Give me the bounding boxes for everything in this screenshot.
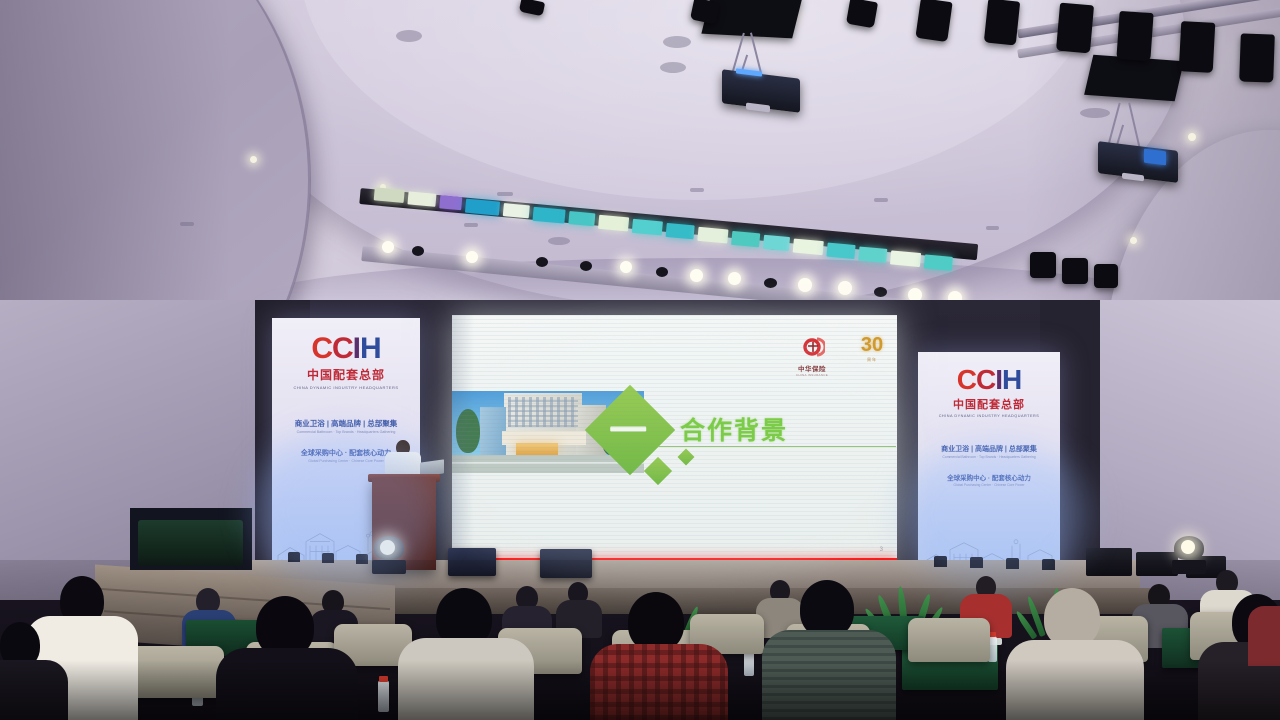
moving-head-lens	[1181, 540, 1195, 554]
spot-fixture	[536, 257, 548, 267]
spot-light	[798, 278, 812, 292]
light-cell	[793, 239, 824, 256]
downlight	[250, 156, 257, 163]
ccih-letter-c2: C	[976, 364, 995, 395]
ccih-logo-right: CCIH 中国配套总部 CHINA DYNAMIC INDUSTRY HEADQ…	[918, 366, 1060, 419]
light-cell	[465, 199, 500, 216]
ceiling-vent	[660, 62, 686, 73]
foreground-shadow	[0, 660, 1280, 720]
downlight	[1188, 133, 1196, 141]
audience-head-front	[628, 592, 684, 652]
ccih-logo-left: CCIH 中国配套总部 CHINA DYNAMIC INDUSTRY HEADQ…	[272, 334, 420, 391]
downlight	[1130, 237, 1137, 244]
ceiling-slot	[180, 222, 194, 226]
light-cell	[924, 254, 953, 270]
light-cell	[374, 187, 405, 203]
par-light	[1239, 33, 1275, 82]
audience-head-front	[1044, 588, 1100, 648]
spot-light	[728, 272, 741, 285]
light-cell	[632, 219, 663, 236]
ceiling-vent	[663, 36, 691, 48]
moving-head-light	[1062, 258, 1088, 284]
spot-fixture	[412, 246, 424, 256]
ceiling-av-panel	[1084, 55, 1184, 101]
light-cell	[598, 215, 629, 232]
ccih-logo-cn-right: 中国配套总部	[918, 396, 1060, 412]
light-cell	[858, 246, 887, 262]
ceiling-slot	[690, 188, 704, 192]
ceiling-slot	[464, 223, 478, 227]
spot-fixture	[874, 287, 887, 297]
spot-light	[382, 241, 394, 253]
ceiling-projector	[722, 28, 812, 120]
spot-light	[620, 261, 632, 273]
par-light	[846, 0, 878, 28]
light-cell	[439, 195, 462, 210]
spot-fixture	[580, 261, 592, 271]
bottle-cap	[989, 632, 996, 637]
par-light	[1056, 3, 1094, 54]
light-cell	[763, 235, 790, 251]
ccih-letter-i: I	[353, 332, 360, 365]
spot-light	[690, 269, 703, 282]
spot-fixture	[656, 267, 668, 277]
ccih-letter-i: I	[995, 364, 1002, 395]
par-light	[1179, 21, 1216, 73]
moving-head-light	[1094, 264, 1118, 288]
ceiling-projector	[1096, 96, 1188, 192]
ceiling-slot	[986, 226, 999, 230]
light-cell	[503, 203, 530, 218]
light-cell	[666, 223, 695, 239]
ccih-letter-h: H	[1002, 364, 1021, 395]
ccih-letter-c1: C	[311, 332, 332, 365]
ceiling-vent	[396, 30, 422, 42]
ceiling-slot	[874, 198, 888, 202]
light-cell	[890, 250, 921, 267]
ccih-letter-c2: C	[332, 332, 353, 365]
moving-head-light	[1030, 252, 1056, 278]
light-cell	[568, 211, 595, 226]
audience-body-front	[1248, 606, 1280, 666]
ccih-logo-en-left: CHINA DYNAMIC INDUSTRY HEADQUARTERS	[272, 385, 420, 391]
par-light	[1116, 11, 1153, 61]
projector-indicator	[1144, 149, 1166, 166]
conference-hall-scene: CCIH 中国配套总部 CHINA DYNAMIC INDUSTRY HEADQ…	[0, 0, 1280, 720]
ccih-logo-en-right: CHINA DYNAMIC INDUSTRY HEADQUARTERS	[918, 414, 1060, 419]
ccih-letter-h: H	[360, 332, 381, 365]
projector-lens	[1122, 173, 1144, 182]
ccih-logo-cn-left: 中国配套总部	[272, 366, 420, 383]
light-cell	[407, 191, 436, 206]
spot-light	[838, 281, 852, 295]
par-light	[984, 0, 1020, 46]
light-cell	[731, 231, 760, 247]
audience-chair	[908, 618, 990, 662]
screen-glow	[430, 320, 920, 590]
spot-fixture	[764, 278, 777, 288]
par-light	[915, 0, 952, 42]
light-cell	[697, 227, 728, 244]
light-cell	[826, 243, 855, 259]
ccih-letter-c1: C	[957, 364, 976, 395]
spot-light	[466, 251, 478, 263]
ceiling-vent	[548, 237, 570, 245]
light-cell	[532, 207, 565, 224]
banner-slogan-cn-1-left: 商业卫浴 | 高端品牌 | 总部聚集	[272, 418, 420, 429]
